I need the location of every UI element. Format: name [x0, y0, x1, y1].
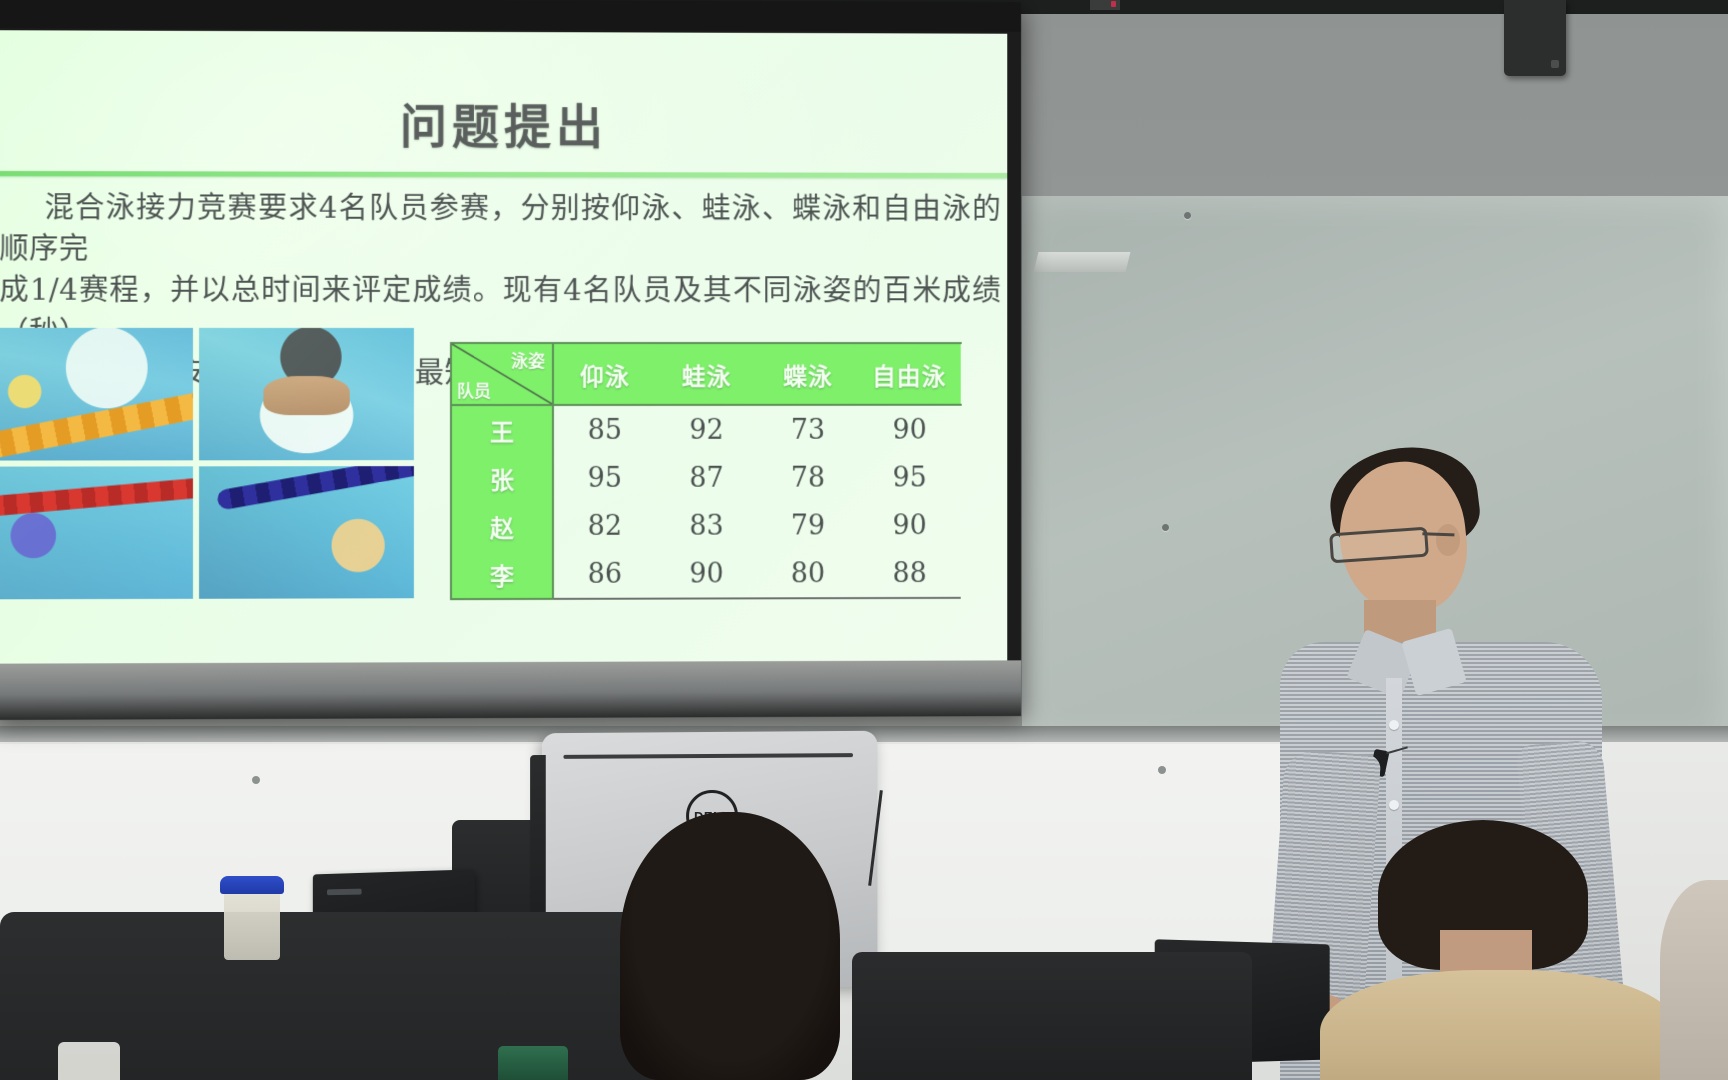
projection-screen: 问题提出 混合泳接力竞赛要求4名队员参赛，分别按仰泳、蛙泳、蝶泳和自由泳的顺序完… [0, 0, 1021, 720]
screen-top-frame [0, 0, 1021, 32]
whiteboard-screw [252, 776, 260, 784]
slide-title: 问题提出 [0, 87, 1007, 159]
cell-zhao-breaststroke: 83 [656, 502, 758, 550]
photo-breaststroke [199, 328, 414, 460]
photo-freestyle-yellow-cap [0, 328, 193, 461]
student-right-beige-jacket [1330, 820, 1660, 1080]
cell-wang-backstroke: 85 [553, 405, 656, 454]
row-header-zhao: 赵 [451, 502, 553, 550]
cell-zhang-butterfly: 78 [757, 454, 858, 502]
swim-scores-table: 泳姿 队员 仰泳 蛙泳 蝶泳 自由泳 王 85 [450, 342, 962, 600]
cell-zhang-backstroke: 95 [553, 454, 656, 502]
photo-overlay [199, 466, 414, 599]
cell-zhang-breaststroke: 87 [656, 454, 758, 502]
cell-li-breaststroke: 90 [656, 549, 758, 598]
shirt-button [1389, 720, 1399, 730]
row-header-zhang: 张 [451, 454, 553, 502]
photo-butterfly-blue-cap [0, 466, 193, 599]
laptop-hinge [563, 753, 853, 759]
row-header-wang: 王 [451, 405, 553, 454]
col-header-backstroke: 仰泳 [553, 343, 656, 405]
table-body: 王 85 92 73 90 张 95 87 78 95 [451, 405, 961, 599]
presentation-slide: 问题提出 混合泳接力竞赛要求4名队员参赛，分别按仰泳、蛙泳、蝶泳和自由泳的顺序完… [0, 30, 1007, 665]
photo-overlay [0, 466, 193, 599]
wall-speaker-icon [1504, 0, 1566, 76]
cell-zhang-freestyle: 95 [859, 454, 961, 502]
table-corner-cell: 泳姿 队员 [451, 343, 553, 405]
desk-object-green [498, 1046, 568, 1080]
shirt-button [1389, 800, 1399, 810]
board-screw [1184, 212, 1191, 219]
photo-overlay [199, 328, 414, 460]
ceiling-sensor-icon [1090, 0, 1120, 10]
col-header-butterfly: 蝶泳 [757, 343, 858, 405]
student-center-foreground [620, 812, 840, 1080]
corner-column-label: 泳姿 [511, 347, 545, 372]
corner-row-label: 队员 [457, 377, 491, 402]
photo-freestyle-lane [199, 466, 414, 599]
wall-vent-icon [1034, 252, 1131, 272]
table-head: 泳姿 队员 仰泳 蛙泳 蝶泳 自由泳 [451, 343, 961, 405]
lecture-hall-scene: 问题提出 混合泳接力竞赛要求4名队员参赛，分别按仰泳、蛙泳、蝶泳和自由泳的顺序完… [0, 0, 1728, 1080]
row-header-li: 李 [451, 550, 553, 599]
water-bottle-cap [220, 876, 284, 894]
screen-bottom-frame [0, 660, 1021, 720]
side-desk [852, 952, 1252, 1080]
cell-zhao-freestyle: 90 [859, 501, 961, 549]
col-header-breaststroke: 蛙泳 [656, 343, 758, 405]
cell-li-butterfly: 80 [757, 549, 858, 598]
cell-zhao-butterfly: 79 [757, 501, 858, 549]
water-bottle [224, 884, 280, 960]
board-screw [1162, 524, 1169, 531]
swimming-photo-grid [0, 328, 414, 600]
student-jacket [1320, 970, 1680, 1080]
title-divider [0, 171, 1007, 178]
body-line-1: 混合泳接力竞赛要求4名队员参赛，分别按仰泳、蛙泳、蝶泳和自由泳的顺序完 [0, 190, 1001, 266]
table-header-row: 泳姿 队员 仰泳 蛙泳 蝶泳 自由泳 [451, 343, 961, 405]
table-row: 赵 82 83 79 90 [451, 501, 961, 550]
cell-wang-butterfly: 73 [757, 405, 858, 454]
photo-overlay [0, 328, 193, 461]
table-row: 王 85 92 73 90 [451, 405, 961, 454]
cell-li-backstroke: 86 [553, 550, 656, 599]
cell-wang-breaststroke: 92 [656, 405, 758, 454]
small-container [58, 1042, 120, 1080]
table-row: 张 95 87 78 95 [451, 454, 961, 503]
scores-table-wrapper: 泳姿 队员 仰泳 蛙泳 蝶泳 自由泳 王 85 [450, 342, 962, 600]
whiteboard-screw [1158, 766, 1166, 774]
student-far-right [1660, 880, 1728, 1080]
cell-li-freestyle: 88 [859, 549, 961, 598]
col-header-freestyle: 自由泳 [859, 343, 961, 405]
presenter-ear [1436, 524, 1460, 556]
cell-wang-freestyle: 90 [859, 405, 961, 454]
table-row: 李 86 90 80 88 [451, 549, 961, 599]
cell-zhao-backstroke: 82 [553, 502, 656, 550]
